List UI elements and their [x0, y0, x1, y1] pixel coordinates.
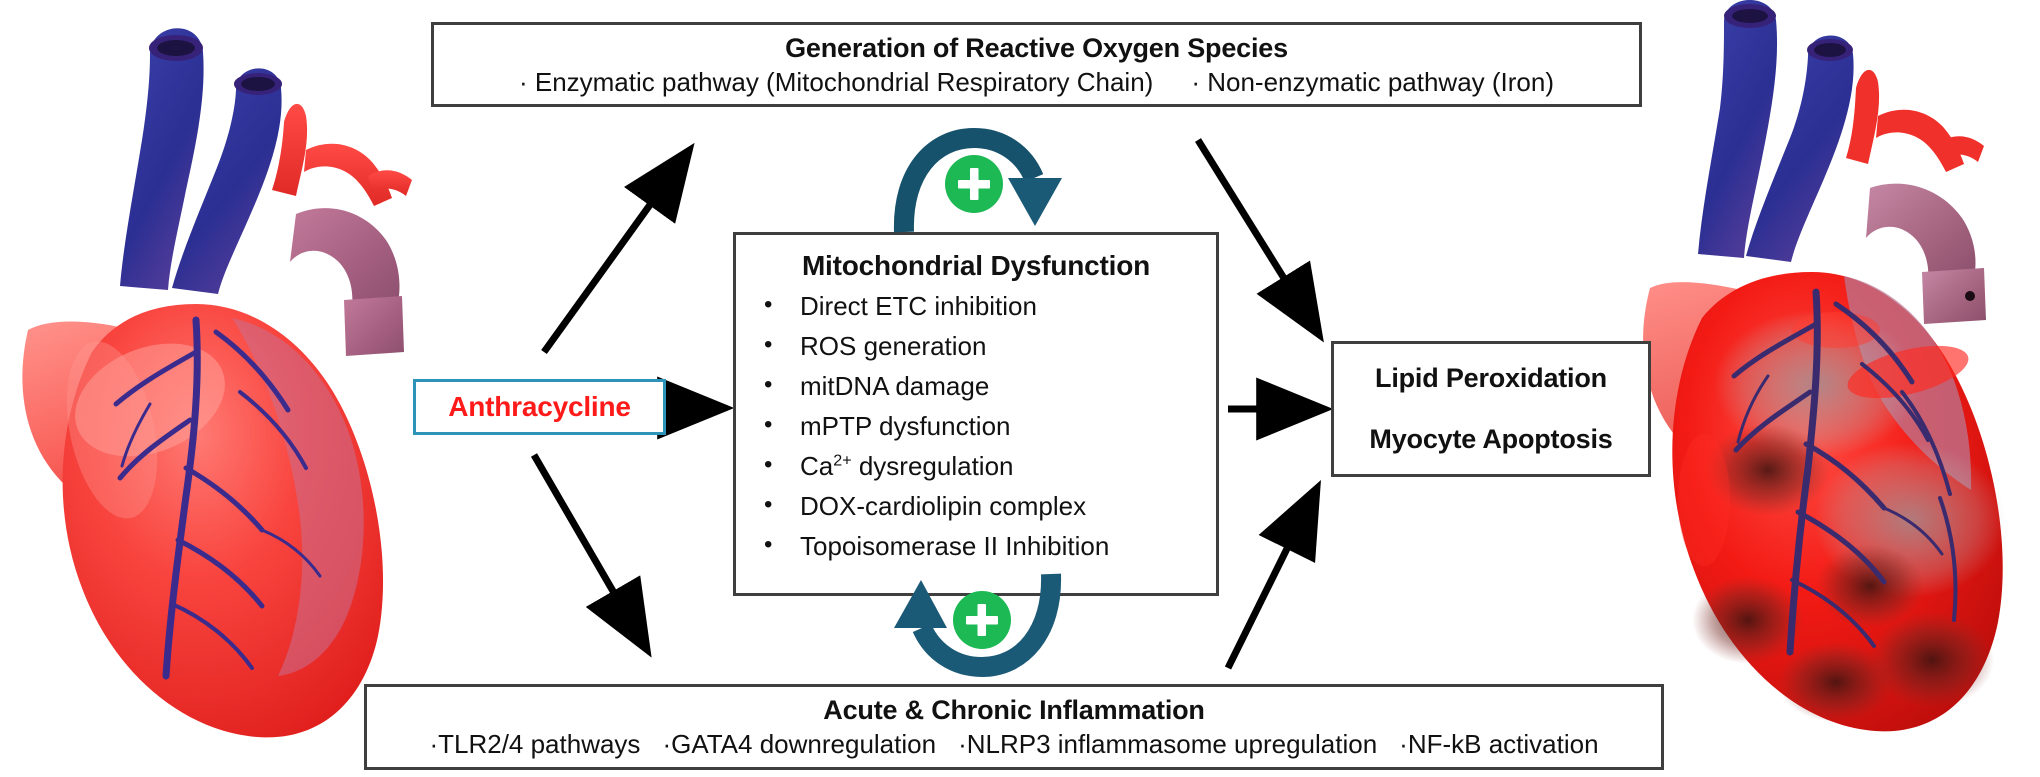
diagram-canvas: Generation of Reactive Oxygen Species · … — [0, 0, 2040, 777]
outcome-box: Lipid Peroxidation Myocyte Apoptosis — [1331, 341, 1651, 477]
arrow-inflammation-to-outcome — [1228, 490, 1316, 668]
list-item: mitDNA damage — [762, 366, 1216, 406]
list-item: mPTP dysfunction — [762, 406, 1216, 446]
anthracycline-box: Anthracycline — [413, 379, 666, 435]
anthracycline-label: Anthracycline — [448, 391, 631, 423]
inflammation-item-nlrp3: ·NLRP3 inflammasome upregulation — [958, 729, 1377, 759]
ros-box-subtitle: · Enzymatic pathway (Mitochondrial Respi… — [434, 65, 1639, 99]
inflammation-box: Acute & Chronic Inflammation ·TLR2/4 pat… — [364, 684, 1664, 770]
bottom-positive-feedback-loop — [890, 572, 1065, 677]
top-positive-feedback-loop — [890, 128, 1065, 233]
list-item: DOX-cardiolipin complex — [762, 486, 1216, 526]
arrow-anthracycline-to-ros — [544, 152, 688, 352]
mitochondrial-dysfunction-box: Mitochondrial Dysfunction Direct ETC inh… — [733, 232, 1219, 596]
inflammation-box-subtitle: ·TLR2/4 pathways·GATA4 downregulation·NL… — [367, 727, 1661, 761]
mito-box-title: Mitochondrial Dysfunction — [736, 247, 1216, 285]
inflammation-item-nfkb: ·NF-kB activation — [1399, 729, 1598, 759]
ca-superscript: 2+ — [833, 451, 851, 469]
list-item: Topoisomerase II Inhibition — [762, 526, 1216, 566]
list-item: Direct ETC inhibition — [762, 286, 1216, 326]
clockwise-arc-arrow-icon — [890, 128, 1065, 233]
ros-generation-box: Generation of Reactive Oxygen Species · … — [431, 22, 1642, 107]
ros-nonenzymatic-pathway: · Non-enzymatic pathway (Iron) — [1191, 67, 1554, 97]
ros-enzymatic-pathway: · Enzymatic pathway (Mitochondrial Respi… — [519, 67, 1153, 97]
lipid-peroxidation-label: Lipid Peroxidation — [1375, 362, 1607, 395]
list-item: ROS generation — [762, 326, 1216, 366]
ca-prefix: Ca — [800, 451, 833, 481]
counterclockwise-arc-arrow-icon — [890, 572, 1065, 677]
ca-suffix: dysregulation — [852, 451, 1014, 481]
inflammation-item-gata4: ·GATA4 downregulation — [662, 729, 936, 759]
mito-bullet-list: Direct ETC inhibition ROS generation mit… — [736, 286, 1216, 566]
ros-box-title: Generation of Reactive Oxygen Species — [434, 31, 1639, 65]
arrow-anthracycline-to-inflammation — [534, 455, 646, 648]
inflammation-item-tlr: ·TLR2/4 pathways — [429, 729, 640, 759]
inflammation-box-title: Acute & Chronic Inflammation — [367, 693, 1661, 727]
list-item-calcium: Ca2+ dysregulation — [762, 446, 1216, 486]
myocyte-apoptosis-label: Myocyte Apoptosis — [1369, 423, 1612, 456]
